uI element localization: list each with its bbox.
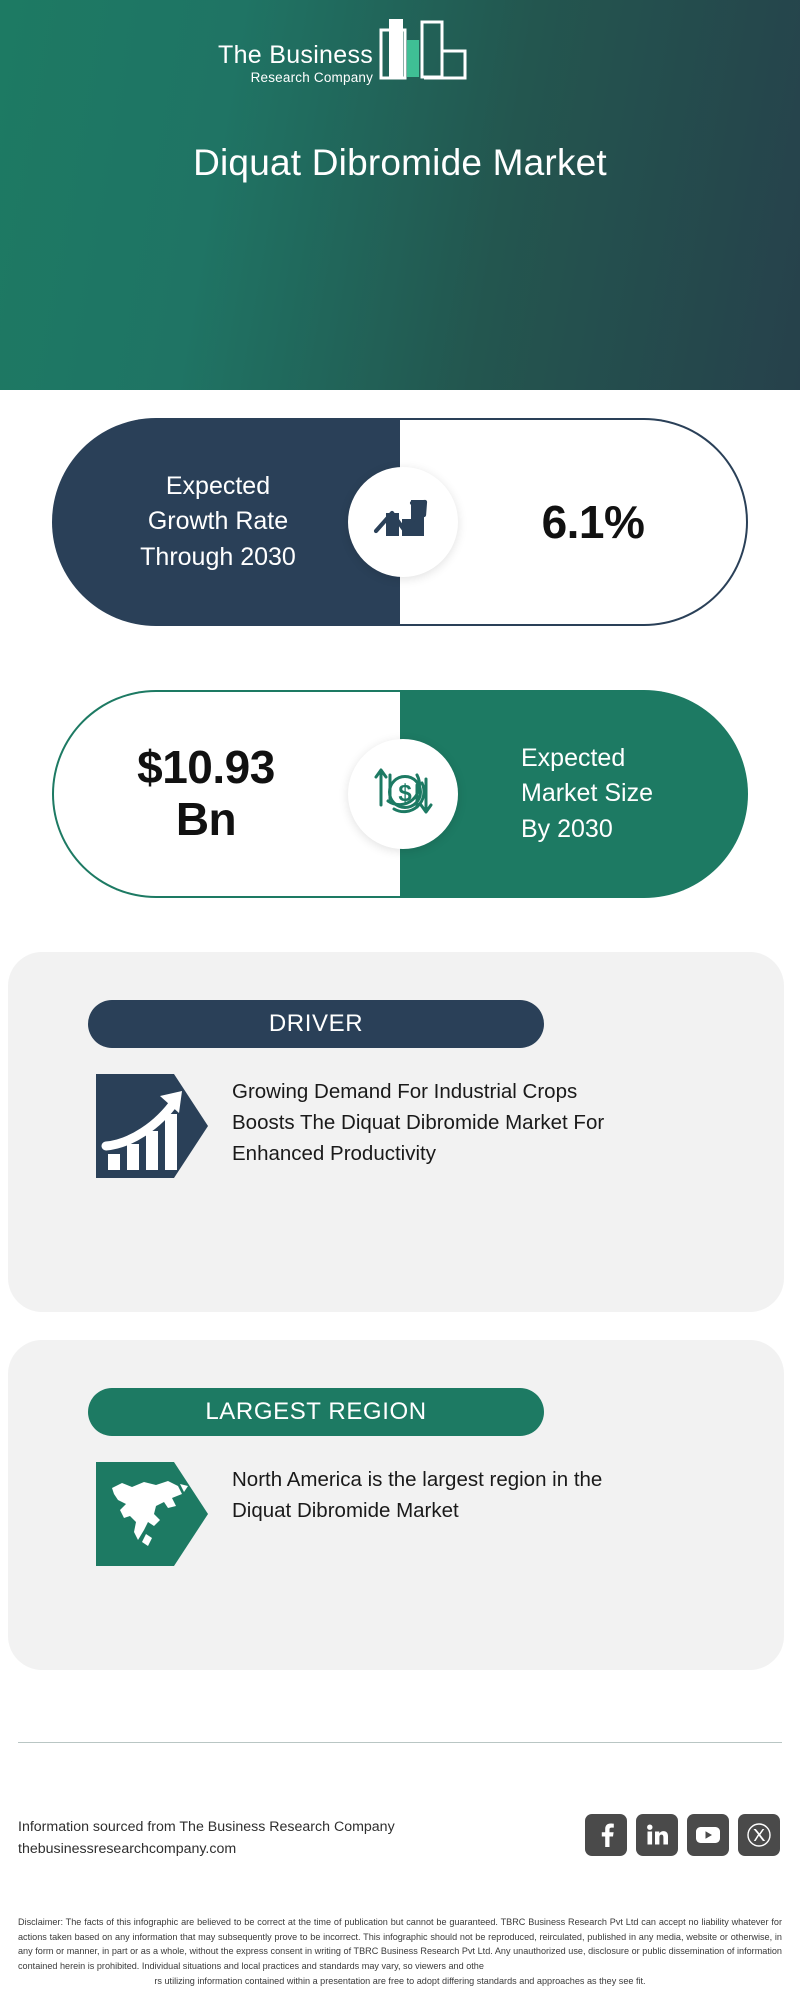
- stat-card-value: 6.1%: [502, 495, 645, 549]
- panel-largest-region: LARGEST REGION North America is the larg…: [8, 1340, 784, 1670]
- panel-driver-pill: DRIVER: [88, 1000, 544, 1048]
- linkedin-icon[interactable]: [636, 1814, 678, 1856]
- stat-card-label: Expected Growth Rate Through 2030: [122, 469, 330, 576]
- stat-label-line: Through 2030: [140, 540, 296, 576]
- footer: Information sourced from The Business Re…: [0, 1770, 800, 1870]
- dollar-refresh-cycle-icon: $: [370, 761, 436, 828]
- footer-source: Information sourced from The Business Re…: [18, 1817, 395, 1860]
- panel-region-pill-label: LARGEST REGION: [205, 1398, 426, 1426]
- stat-value-line: Bn: [137, 794, 275, 846]
- stat-card-growth-rate: Expected Growth Rate Through 2030 6.1%: [52, 418, 748, 626]
- disclaimer: Disclaimer: The facts of this infographi…: [18, 1915, 782, 1989]
- stat-label-line: Expected: [140, 469, 296, 505]
- stat-label-line: By 2030: [521, 812, 653, 848]
- company-logo: The Business Research Company: [218, 24, 467, 86]
- stat-card-icon-badge: $: [348, 739, 458, 849]
- panel-region-text: North America is the largest region in t…: [232, 1462, 642, 1526]
- company-logo-line2: Research Company: [251, 71, 374, 85]
- page-title: Diquat Dibromide Market: [0, 142, 800, 184]
- company-logo-line1: The Business: [218, 43, 373, 68]
- disclaimer-last-line: rs utilizing information contained withi…: [18, 1974, 782, 1989]
- stat-label-line: Growth Rate: [140, 504, 296, 540]
- stat-card-market-size: $10.93 Bn Expected Market Size By 2030 $: [52, 690, 748, 898]
- facebook-icon[interactable]: [585, 1814, 627, 1856]
- footer-source-line1: Information sourced from The Business Re…: [18, 1817, 395, 1839]
- panel-driver-body: Growing Demand For Industrial Crops Boos…: [96, 1074, 642, 1178]
- stat-card-value: $10.93 Bn: [137, 742, 317, 845]
- stat-label-line: Market Size: [521, 776, 653, 812]
- panel-driver-pill-label: DRIVER: [269, 1010, 363, 1038]
- bar-chart-arrow-up-icon: [372, 491, 434, 554]
- growth-arrow-pentagon-icon: [96, 1074, 210, 1178]
- company-logo-text: The Business Research Company: [218, 43, 373, 87]
- panel-driver-text: Growing Demand For Industrial Crops Boos…: [232, 1074, 642, 1169]
- stat-card-label: Expected Market Size By 2030: [477, 741, 671, 848]
- north-america-map-pentagon-icon: [96, 1462, 210, 1566]
- footer-divider: [18, 1742, 782, 1743]
- stat-value-line: $10.93: [137, 742, 275, 794]
- stat-card-icon-badge: [348, 467, 458, 577]
- bar-chart-logo-icon: [379, 18, 467, 85]
- youtube-icon[interactable]: [687, 1814, 729, 1856]
- panel-driver: DRIVER Growing Demand For Industrial Cro…: [8, 952, 784, 1312]
- stat-label-line: Expected: [521, 741, 653, 777]
- disclaimer-main: Disclaimer: The facts of this infographi…: [18, 1917, 782, 1971]
- social-links: [585, 1814, 780, 1856]
- panel-region-body: North America is the largest region in t…: [96, 1462, 642, 1566]
- header-banner: The Business Research Company Diquat Dib…: [0, 0, 800, 390]
- footer-source-line2[interactable]: thebusinessresearchcompany.com: [18, 1839, 395, 1861]
- x-twitter-icon[interactable]: [738, 1814, 780, 1856]
- panel-region-pill: LARGEST REGION: [88, 1388, 544, 1436]
